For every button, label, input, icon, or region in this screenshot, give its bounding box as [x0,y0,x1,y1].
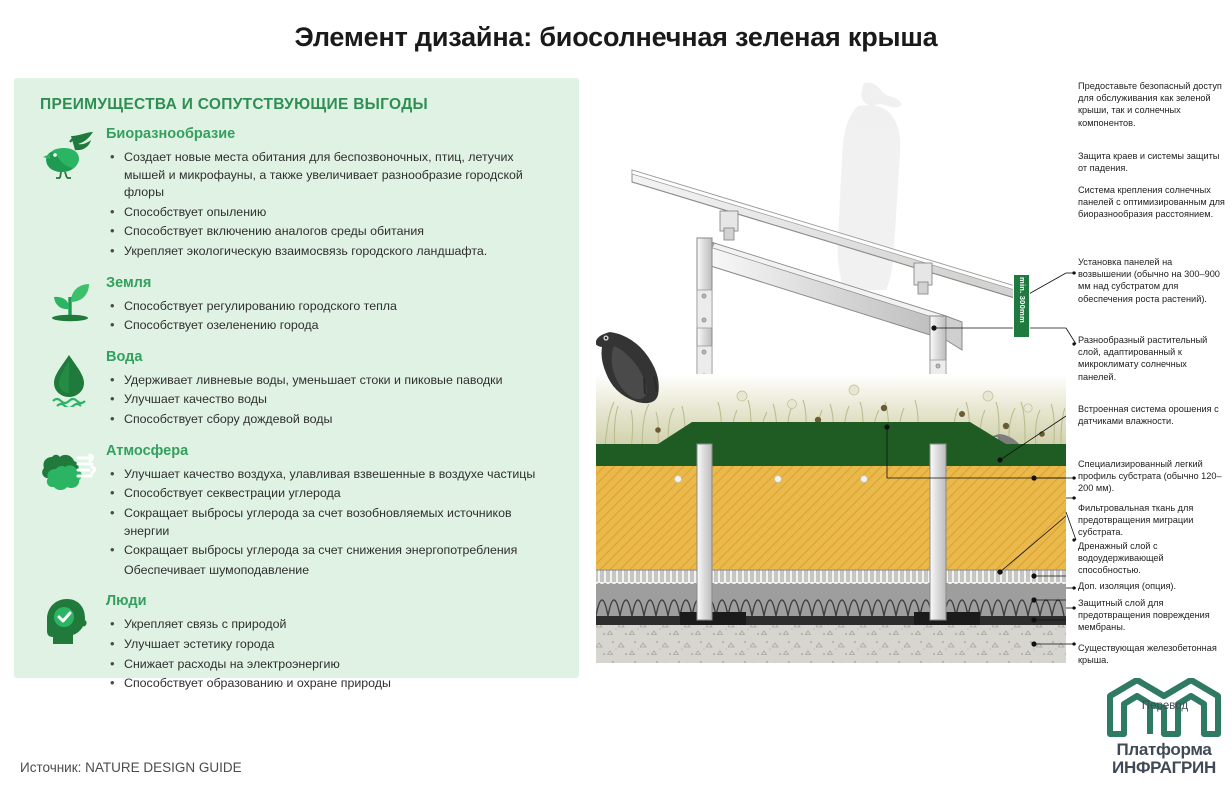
annotation-note: Установка панелей на возвышении (обычно … [1078,256,1226,305]
section-body: Атмосфера Улучшает качество воздуха, ула… [106,443,561,590]
sprout-icon [32,275,106,345]
annotation-note: Существующая железобетонная крыша. [1078,642,1226,666]
list-item: Сокращает выбросы углерода за счет сниже… [106,542,557,560]
section-people: Люди Укрепляет связь с природой Улучшает… [32,593,561,702]
annotation-note: Система крепления солнечных панелей с оп… [1078,184,1226,221]
pad-right [914,612,980,625]
annotation-note: Специализированный легкий профиль субстр… [1078,458,1226,495]
list-item: Укрепляет экологическую взаимосвязь горо… [106,243,557,261]
list-item: Способствует образованию и охране природ… [106,675,557,693]
section-body: Биоразнообразие Создает новые места обит… [106,126,561,271]
list-item: Улучшает эстетику города [106,636,557,654]
section-heading: Земля [106,275,557,291]
page-title: Элемент дизайна: биосолнечная зеленая кр… [0,22,1232,53]
brand-logo: Перевод Платформа ИНФРАГРИН [1104,678,1224,782]
annotation-note: Защитный слой для предотвращения поврежд… [1078,597,1226,634]
source-value: NATURE DESIGN GUIDE [85,760,242,775]
annotation-note: Защита краев и системы защиты от падения… [1078,150,1226,174]
list-item: Обеспечивает шумоподавление [106,562,557,580]
layer-substrate [596,466,1066,570]
list-item: Способствует включению аналогов среды об… [106,223,557,241]
source-label: Источник: [20,760,81,775]
benefit-list: Удерживает ливневые воды, уменьшает сток… [106,372,557,429]
logo-line-1: Платформа [1104,740,1224,760]
section-atmosphere: Атмосфера Улучшает качество воздуха, ула… [32,443,561,590]
section-land: Земля Способствует регулированию городск… [32,275,561,345]
list-item: Сокращает выбросы углерода за счет возоб… [106,505,557,540]
section-heading: Биоразнообразие [106,126,557,142]
benefits-panel-title: ПРЕИМУЩЕСТВА И СОПУТСТВУЮЩИЕ ВЫГОДЫ [40,96,561,114]
water-drop-icon [32,349,106,439]
annotation-note: Дренажный слой с водоудерживающей способ… [1078,540,1226,577]
annotation-note: Встроенная система орошения с датчиками … [1078,403,1226,427]
annotation-note: Фильтровальная ткань для предотвращения … [1078,502,1226,539]
list-item: Способствует сбору дождевой воды [106,411,557,429]
annotation-note: Доп. изоляция (опция). [1078,580,1226,592]
annotation-note: Предоставьте безопасный доступ для обслу… [1078,80,1226,129]
list-item: Улучшает качество воды [106,391,557,409]
annotation-note: Разнообразный растительный слой, адаптир… [1078,334,1226,383]
list-item: Укрепляет связь с природой [106,616,557,634]
layer-concrete-deck [596,625,1066,663]
panel-mount-clamp-right [914,263,932,294]
benefit-list: Укрепляет связь с природой Улучшает эсте… [106,616,557,692]
layer-filter-fabric [596,570,1066,584]
benefit-list: Создает новые места обитания для беспозв… [106,149,557,261]
air-cloud-icon [32,443,106,590]
section-water: Вода Удерживает ливневые воды, уменьшает… [32,349,561,439]
list-item: Создает новые места обитания для беспозв… [106,149,557,202]
head-check-icon [32,593,106,702]
source-line: Источник: NATURE DESIGN GUIDE [20,760,242,775]
list-item: Способствует регулированию городского те… [106,298,557,316]
benefit-list: Способствует регулированию городского те… [106,298,557,335]
biosolar-roof-cross-section-diagram [596,78,1066,663]
diagram-svg [596,78,1066,663]
section-heading: Люди [106,593,557,609]
list-item: Удерживает ливневые воды, уменьшает сток… [106,372,557,390]
infographic-page: Элемент дизайна: биосолнечная зеленая кр… [0,0,1232,796]
logo-inner-label: Перевод [1134,700,1196,712]
section-heading: Атмосфера [106,443,557,459]
section-body: Земля Способствует регулированию городск… [106,275,561,345]
section-heading: Вода [106,349,557,365]
list-item: Способствует секвестрации углерода [106,485,557,503]
list-item: Способствует озеленению города [106,317,557,335]
list-item: Снижает расходы на электроэнергию [106,656,557,674]
layer-membrane [596,616,1066,625]
list-item: Способствует опылению [106,204,557,222]
pad-left [680,612,746,625]
bird-branch-icon [32,126,106,271]
section-biodiversity: Биоразнообразие Создает новые места обит… [32,126,561,271]
panel-mount-clamp-left [720,211,738,240]
section-body: Люди Укрепляет связь с природой Улучшает… [106,593,561,702]
logo-line-2: ИНФРАГРИН [1104,758,1224,778]
benefits-panel: ПРЕИМУЩЕСТВА И СОПУТСТВУЮЩИЕ ВЫГОДЫ Биор… [14,78,579,678]
min-height-badge: min. 300mm [1013,274,1030,338]
list-item: Улучшает качество воздуха, улавливая взв… [106,466,557,484]
roof-layer-stack [596,422,1066,663]
benefit-list: Улучшает качество воздуха, улавливая взв… [106,466,557,580]
section-body: Вода Удерживает ливневые воды, уменьшает… [106,349,561,439]
min-height-badge-label: min. 300mm [1018,277,1027,323]
